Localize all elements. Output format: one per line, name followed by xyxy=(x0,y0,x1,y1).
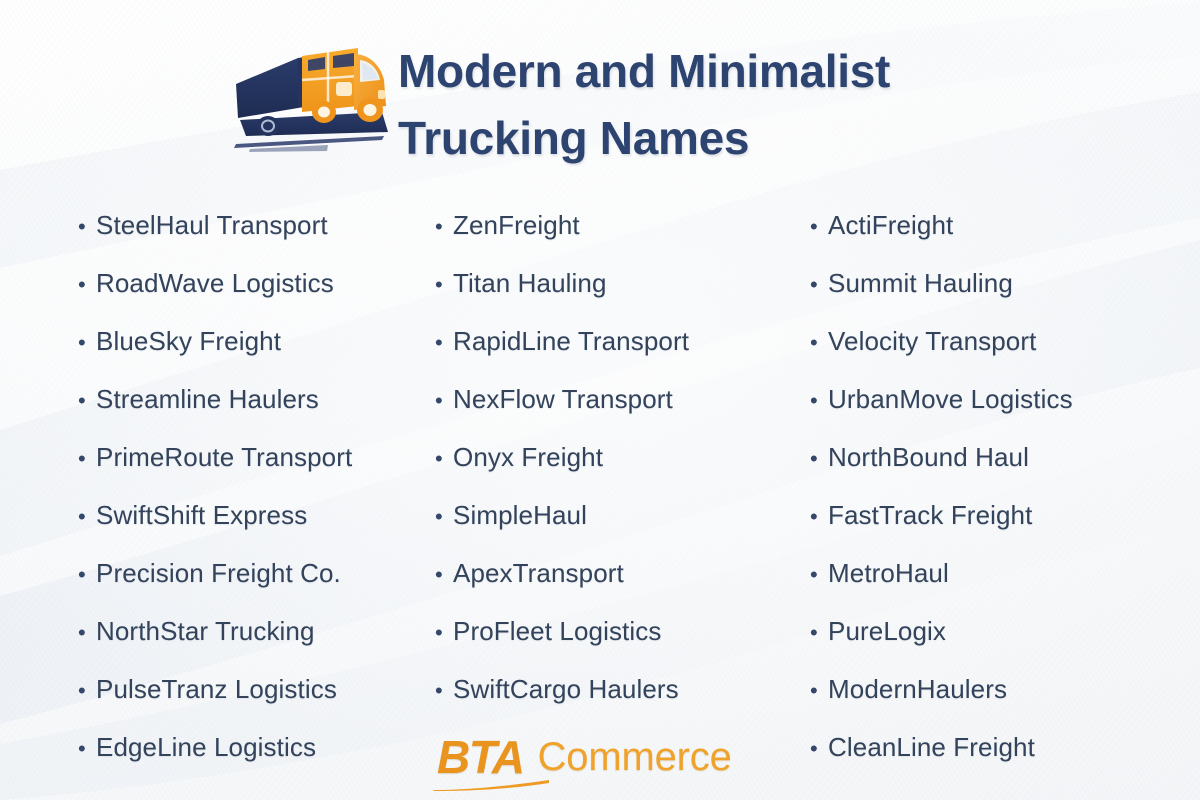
name-columns: •SteelHaul Transport •RoadWave Logistics… xyxy=(0,196,1200,796)
bullet-icon: • xyxy=(78,488,96,546)
list-item: •RoadWave Logistics xyxy=(78,254,428,312)
list-item: •ProFleet Logistics xyxy=(435,602,805,660)
bullet-icon: • xyxy=(435,314,453,372)
list-item: •NorthStar Trucking xyxy=(78,602,428,660)
list-item: •ActiFreight xyxy=(810,196,1190,254)
list-item-label: ProFleet Logistics xyxy=(453,602,661,660)
list-item-label: Titan Hauling xyxy=(453,254,607,312)
list-item-label: SwiftCargo Haulers xyxy=(453,660,679,718)
bullet-icon: • xyxy=(435,662,453,720)
list-item: •Titan Hauling xyxy=(435,254,805,312)
list-item-label: Summit Hauling xyxy=(828,254,1013,312)
bullet-icon: • xyxy=(435,198,453,256)
list-item: •EdgeLine Logistics xyxy=(78,718,428,776)
list-item: •CleanLine Freight xyxy=(810,718,1190,776)
bullet-icon: • xyxy=(78,256,96,314)
header: Modern and Minimalist Trucking Names xyxy=(0,0,1200,180)
list-item: •Velocity Transport xyxy=(810,312,1190,370)
infographic-canvas: Modern and Minimalist Trucking Names •St… xyxy=(0,0,1200,800)
bullet-icon: • xyxy=(810,488,828,546)
list-item-label: Velocity Transport xyxy=(828,312,1036,370)
bullet-icon: • xyxy=(810,314,828,372)
bullet-icon: • xyxy=(78,662,96,720)
list-item: •MetroHaul xyxy=(810,544,1190,602)
brand-mark-bta: BTA xyxy=(437,730,528,784)
list-item-label: Streamline Haulers xyxy=(96,370,319,428)
list-item-label: CleanLine Freight xyxy=(828,718,1035,776)
list-item: •PulseTranz Logistics xyxy=(78,660,428,718)
list-item: •NexFlow Transport xyxy=(435,370,805,428)
list-item: •RapidLine Transport xyxy=(435,312,805,370)
list-item: •SimpleHaul xyxy=(435,486,805,544)
name-column-2: •ZenFreight •Titan Hauling •RapidLine Tr… xyxy=(435,196,805,718)
list-item-label: BlueSky Freight xyxy=(96,312,281,370)
list-item: •NorthBound Haul xyxy=(810,428,1190,486)
list-item-label: ModernHaulers xyxy=(828,660,1007,718)
list-item-label: PureLogix xyxy=(828,602,946,660)
name-column-3: •ActiFreight •Summit Hauling •Velocity T… xyxy=(810,196,1190,776)
brand-logo: BTA Commerce xyxy=(437,726,737,788)
list-item-label: SimpleHaul xyxy=(453,486,587,544)
list-item: •SwiftShift Express xyxy=(78,486,428,544)
list-item: •Streamline Haulers xyxy=(78,370,428,428)
list-item-label: FastTrack Freight xyxy=(828,486,1032,544)
list-item: •UrbanMove Logistics xyxy=(810,370,1190,428)
title-line-1: Modern and Minimalist xyxy=(398,38,1098,105)
list-item-label: RapidLine Transport xyxy=(453,312,689,370)
page-title: Modern and Minimalist Trucking Names xyxy=(398,38,1098,172)
list-item: •FastTrack Freight xyxy=(810,486,1190,544)
list-item-label: MetroHaul xyxy=(828,544,949,602)
list-item: •SteelHaul Transport xyxy=(78,196,428,254)
bullet-icon: • xyxy=(78,604,96,662)
bullet-icon: • xyxy=(435,256,453,314)
brand-word-commerce: Commerce xyxy=(538,735,732,780)
list-item-label: Precision Freight Co. xyxy=(96,544,341,602)
list-item-label: SteelHaul Transport xyxy=(96,196,328,254)
list-item-label: RoadWave Logistics xyxy=(96,254,334,312)
bullet-icon: • xyxy=(78,430,96,488)
bullet-icon: • xyxy=(435,604,453,662)
brand-swoosh-icon xyxy=(433,780,549,791)
list-item-label: SwiftShift Express xyxy=(96,486,307,544)
bullet-icon: • xyxy=(78,720,96,778)
bullet-icon: • xyxy=(810,546,828,604)
list-item-label: ApexTransport xyxy=(453,544,624,602)
list-item: •ApexTransport xyxy=(435,544,805,602)
list-item: •ZenFreight xyxy=(435,196,805,254)
bullet-icon: • xyxy=(810,604,828,662)
list-item-label: NorthBound Haul xyxy=(828,428,1029,486)
bullet-icon: • xyxy=(78,546,96,604)
bullet-icon: • xyxy=(435,546,453,604)
bullet-icon: • xyxy=(78,198,96,256)
name-column-1: •SteelHaul Transport •RoadWave Logistics… xyxy=(78,196,428,776)
list-item-label: NexFlow Transport xyxy=(453,370,673,428)
bullet-icon: • xyxy=(435,430,453,488)
list-item: •Summit Hauling xyxy=(810,254,1190,312)
bullet-icon: • xyxy=(810,256,828,314)
list-item: •ModernHaulers xyxy=(810,660,1190,718)
list-item-label: ZenFreight xyxy=(453,196,580,254)
bullet-icon: • xyxy=(78,372,96,430)
list-item: •PrimeRoute Transport xyxy=(78,428,428,486)
bullet-icon: • xyxy=(435,372,453,430)
list-item-label: Onyx Freight xyxy=(453,428,603,486)
list-item-label: UrbanMove Logistics xyxy=(828,370,1073,428)
bullet-icon: • xyxy=(810,372,828,430)
list-item-label: NorthStar Trucking xyxy=(96,602,315,660)
title-line-2: Trucking Names xyxy=(398,105,1098,172)
list-item: •BlueSky Freight xyxy=(78,312,428,370)
list-item: •PureLogix xyxy=(810,602,1190,660)
list-item: •Onyx Freight xyxy=(435,428,805,486)
bullet-icon: • xyxy=(435,488,453,546)
bullet-icon: • xyxy=(810,198,828,256)
list-item: •Precision Freight Co. xyxy=(78,544,428,602)
list-item-label: ActiFreight xyxy=(828,196,953,254)
truck-icon xyxy=(232,36,400,152)
bullet-icon: • xyxy=(78,314,96,372)
list-item-label: EdgeLine Logistics xyxy=(96,718,316,776)
bullet-icon: • xyxy=(810,720,828,778)
bullet-icon: • xyxy=(810,430,828,488)
list-item-label: PulseTranz Logistics xyxy=(96,660,337,718)
list-item: •SwiftCargo Haulers xyxy=(435,660,805,718)
list-item-label: PrimeRoute Transport xyxy=(96,428,352,486)
bullet-icon: • xyxy=(810,662,828,720)
